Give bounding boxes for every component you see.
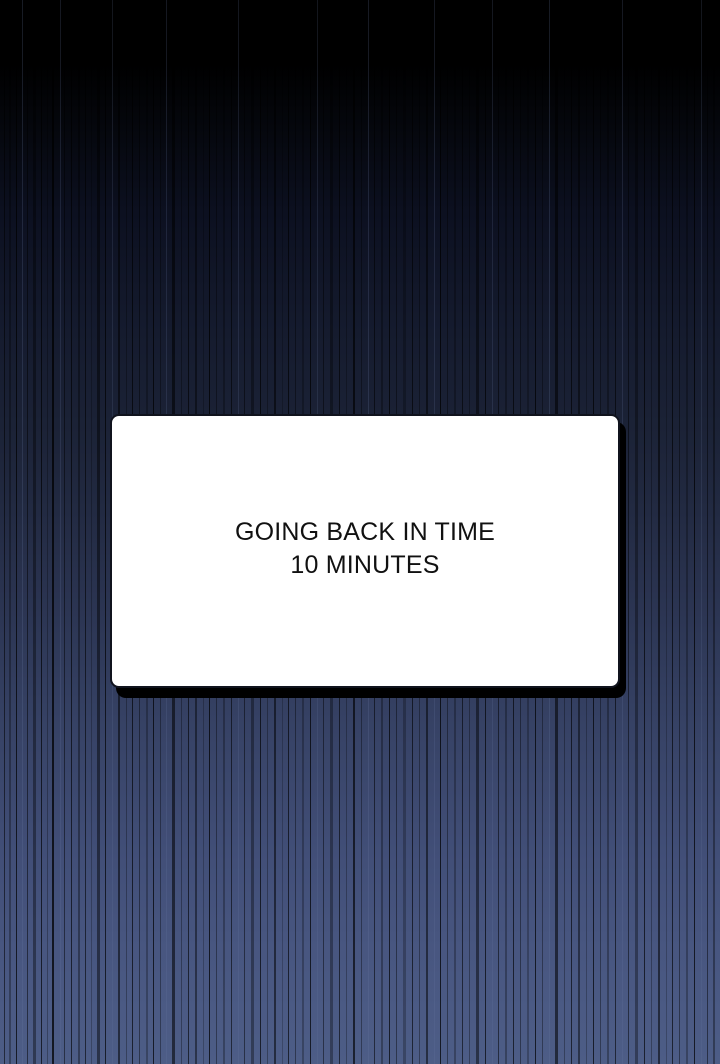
streak-line bbox=[628, 0, 629, 1064]
streak-line bbox=[16, 0, 17, 1064]
streak-line bbox=[635, 0, 638, 1064]
streak-line bbox=[33, 0, 36, 1064]
streak-line bbox=[672, 0, 673, 1064]
streak-line bbox=[71, 0, 72, 1064]
comic-panel-scene: GOING BACK IN TIME 10 MINUTES bbox=[0, 0, 720, 1064]
streak-line bbox=[60, 0, 61, 1064]
streak-line bbox=[658, 0, 660, 1064]
streak-line bbox=[85, 0, 86, 1064]
caption-line-2: 10 MINUTES bbox=[235, 549, 495, 582]
streak-line bbox=[707, 0, 708, 1064]
streak-line bbox=[9, 0, 11, 1064]
caption-line-1: GOING BACK IN TIME bbox=[235, 516, 495, 549]
streak-line bbox=[666, 0, 667, 1064]
streak-line bbox=[651, 0, 652, 1064]
streak-line bbox=[47, 0, 48, 1064]
streak-line bbox=[78, 0, 80, 1064]
streak-line bbox=[644, 0, 645, 1064]
streak-line bbox=[679, 0, 680, 1064]
streak-line bbox=[64, 0, 65, 1064]
streak-line bbox=[27, 0, 28, 1064]
streak-line bbox=[105, 0, 106, 1064]
streak-line bbox=[52, 0, 54, 1064]
streak-line bbox=[4, 0, 5, 1064]
streak-line bbox=[97, 0, 100, 1064]
caption-text-block: GOING BACK IN TIME 10 MINUTES bbox=[235, 516, 495, 586]
caption-panel: GOING BACK IN TIME 10 MINUTES bbox=[110, 414, 620, 688]
streak-line bbox=[713, 0, 715, 1064]
streak-line bbox=[694, 0, 695, 1064]
streak-line bbox=[686, 0, 688, 1064]
streak-line bbox=[22, 0, 23, 1064]
streak-line bbox=[41, 0, 42, 1064]
streak-line bbox=[91, 0, 92, 1064]
streak-line bbox=[701, 0, 702, 1064]
